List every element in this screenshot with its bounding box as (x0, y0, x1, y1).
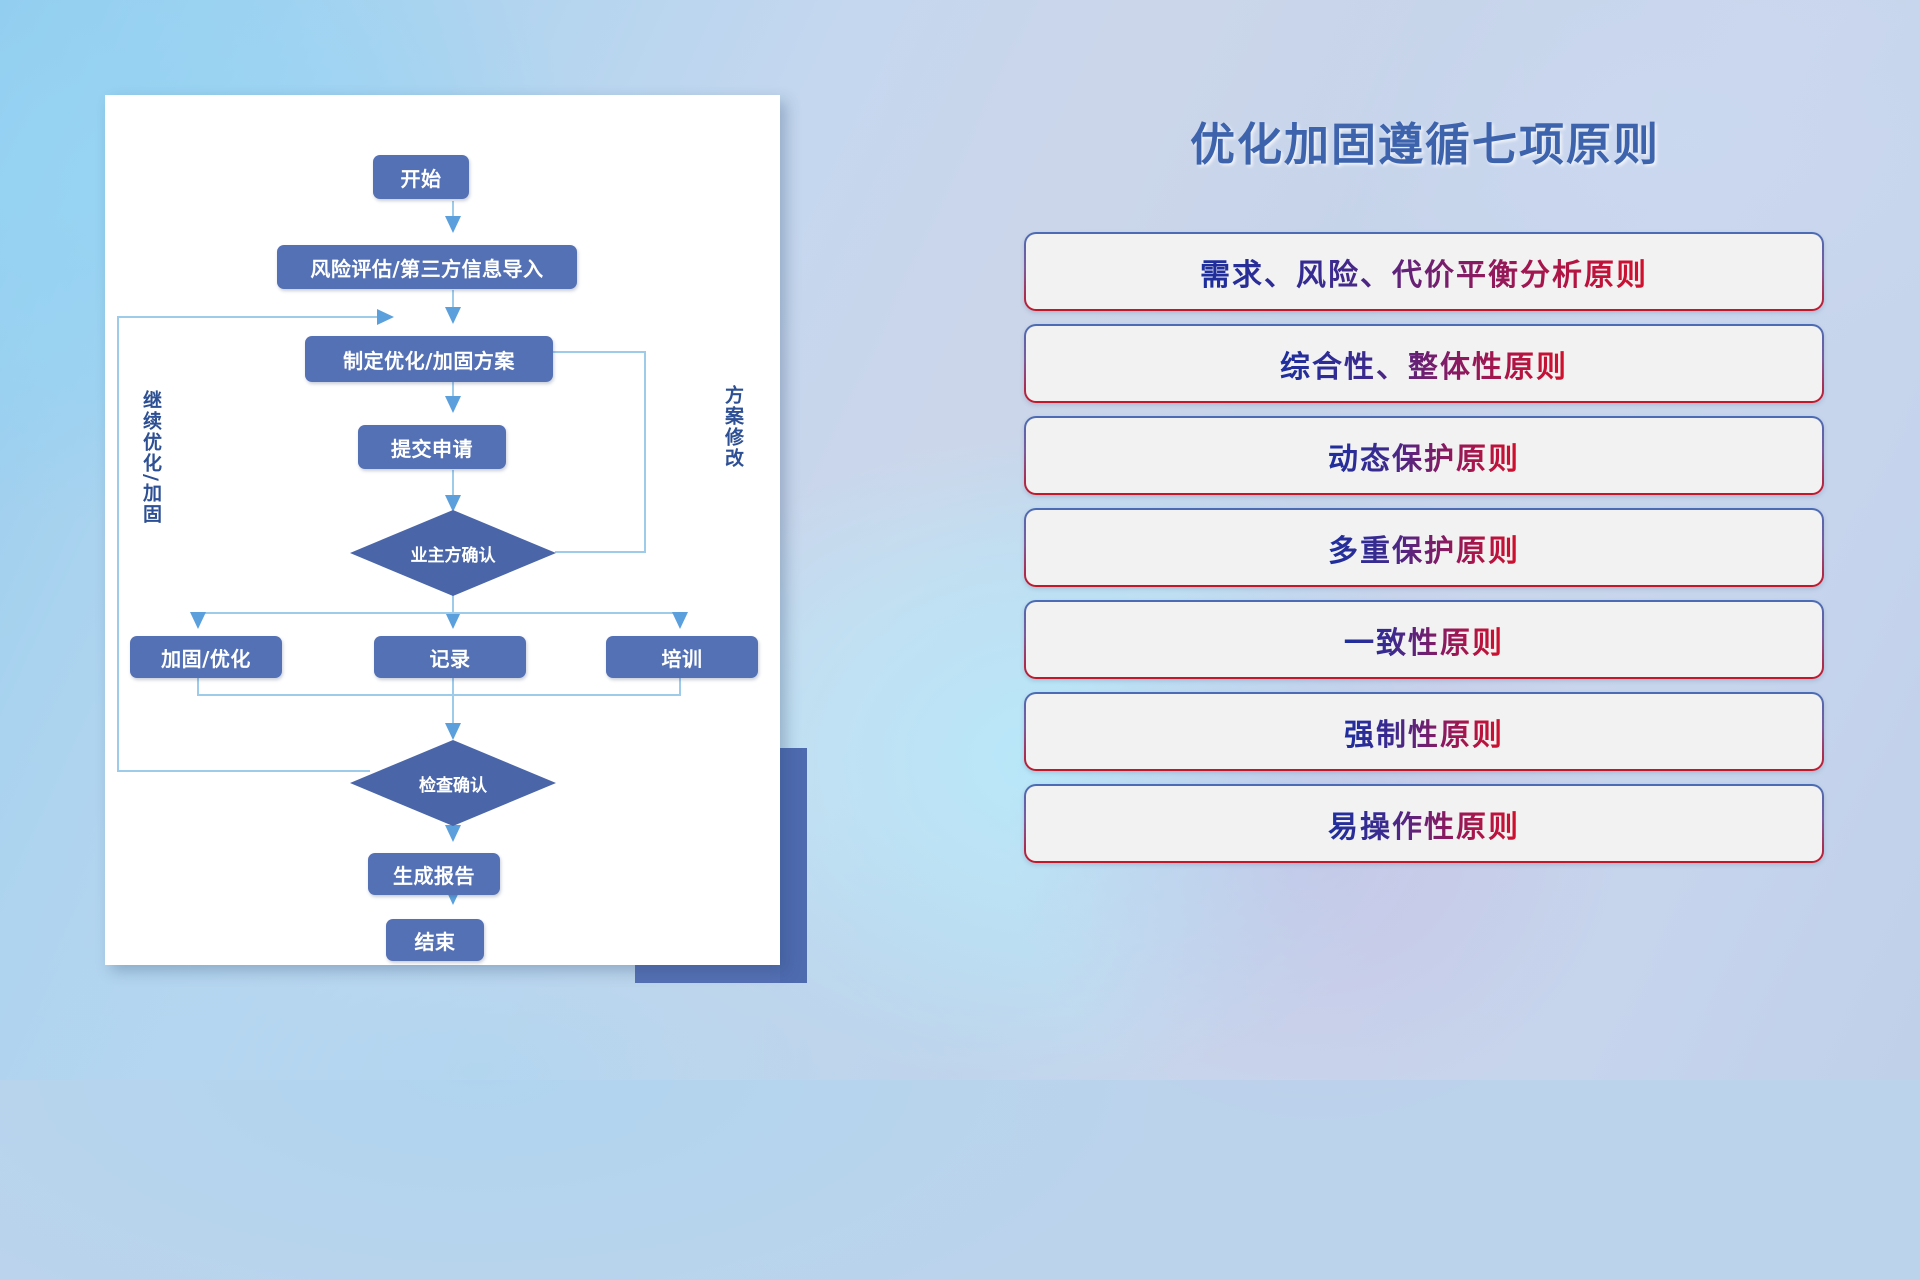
flow-decision-owner-label: 业主方确认 (411, 541, 496, 566)
flow-node-plan-label: 制定优化/加固方案 (343, 345, 515, 374)
flow-node-start-label: 开始 (401, 163, 442, 192)
flow-node-start[interactable]: 开始 (373, 155, 469, 199)
principle-card[interactable]: 动态保护原则 (1024, 416, 1824, 495)
principle-card-label: 综合性、整体性原则 (1280, 342, 1568, 386)
flow-node-end[interactable]: 结束 (386, 919, 484, 961)
flow-node-risk-label: 风险评估/第三方信息导入 (310, 253, 543, 282)
principles-list: 需求、风险、代价平衡分析原则 综合性、整体性原则 动态保护原则 多重保护原则 一… (1024, 232, 1824, 876)
flow-node-report-label: 生成报告 (393, 860, 475, 889)
flow-node-reinforce[interactable]: 加固/优化 (130, 636, 282, 678)
principle-card-label: 需求、风险、代价平衡分析原则 (1200, 250, 1648, 294)
flowchart-panel: 开始 风险评估/第三方信息导入 制定优化/加固方案 提交申请 业主方确认 加固/… (105, 95, 780, 965)
principle-card-label: 强制性原则 (1344, 710, 1504, 754)
flow-edge-label-left-loop: 继续优化/加固 (138, 390, 165, 525)
principle-card[interactable]: 多重保护原则 (1024, 508, 1824, 587)
flow-decision-check-label: 检查确认 (419, 771, 487, 796)
flow-node-submit[interactable]: 提交申请 (358, 425, 506, 469)
flow-edge-label-right-loop: 方案修改 (720, 385, 747, 469)
flow-node-plan[interactable]: 制定优化/加固方案 (305, 336, 553, 382)
principle-card[interactable]: 需求、风险、代价平衡分析原则 (1024, 232, 1824, 311)
principle-card-label: 易操作性原则 (1328, 802, 1520, 846)
flow-node-record-label: 记录 (430, 643, 471, 672)
flow-node-record[interactable]: 记录 (374, 636, 526, 678)
flow-node-risk[interactable]: 风险评估/第三方信息导入 (277, 245, 577, 289)
flow-node-reinforce-label: 加固/优化 (161, 643, 251, 672)
flow-node-train[interactable]: 培训 (606, 636, 758, 678)
principle-card[interactable]: 一致性原则 (1024, 600, 1824, 679)
flow-node-report[interactable]: 生成报告 (368, 853, 500, 895)
flow-node-submit-label: 提交申请 (391, 433, 473, 462)
principle-card[interactable]: 强制性原则 (1024, 692, 1824, 771)
principle-card[interactable]: 易操作性原则 (1024, 784, 1824, 863)
principle-card-label: 多重保护原则 (1328, 526, 1520, 570)
page-title: 优化加固遵循七项原则 (1030, 108, 1820, 173)
accent-rectangle-edge (780, 748, 807, 983)
principle-card-label: 动态保护原则 (1328, 434, 1520, 478)
principle-card-label: 一致性原则 (1344, 618, 1504, 662)
flow-node-train-label: 培训 (662, 643, 703, 672)
flow-node-end-label: 结束 (415, 926, 456, 955)
principle-card[interactable]: 综合性、整体性原则 (1024, 324, 1824, 403)
